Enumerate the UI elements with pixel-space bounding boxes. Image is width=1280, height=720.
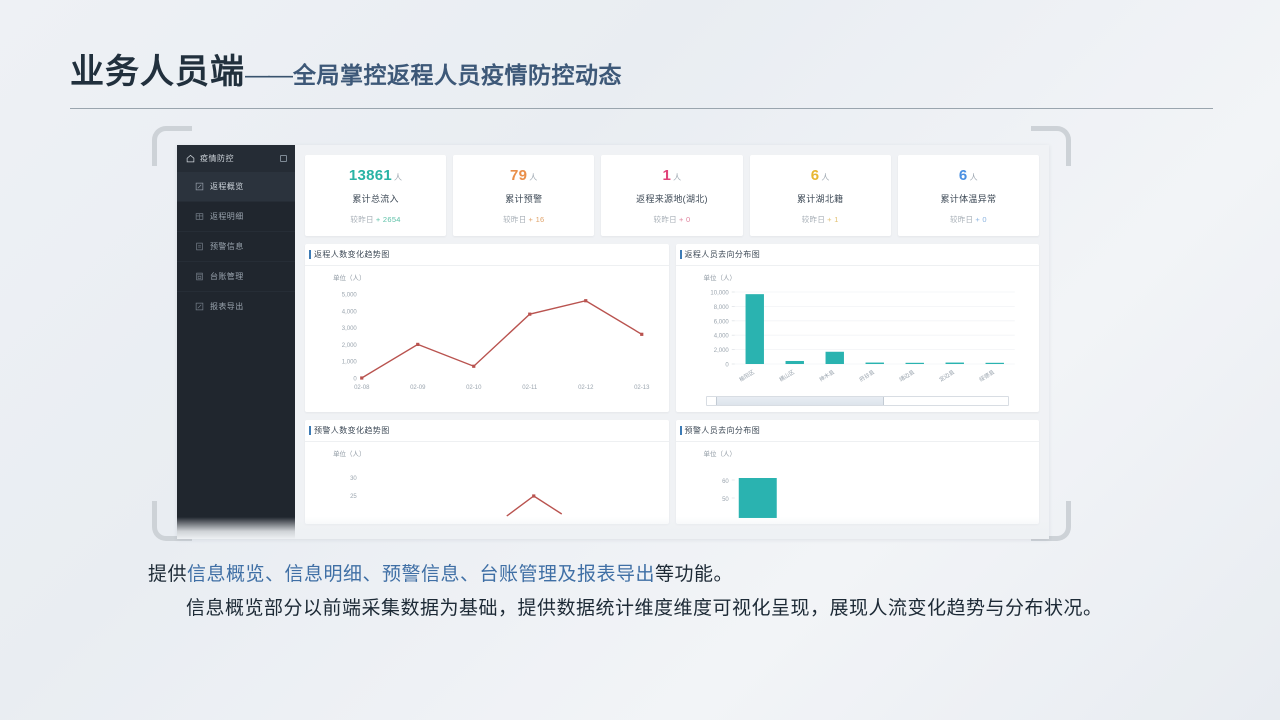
svg-text:绥德县: 绥德县 (977, 368, 996, 384)
kpi-delta-value: + 1 (827, 215, 839, 224)
kpi-value: 6人 (754, 167, 887, 184)
chart-card-return-destination: 返程人员去向分布图 单位（人） 02,0004,0006,0008,00010,… (676, 244, 1040, 412)
sidebar-item-label: 返程明细 (210, 211, 244, 222)
kpi-unit: 人 (529, 173, 537, 182)
page-title-sub: 全局掌控返程人员疫情防控动态 (293, 56, 622, 90)
chart-body: 单位（人） 3025 (305, 442, 669, 524)
svg-text:府谷县: 府谷县 (857, 368, 876, 384)
page-title-dash: —— (245, 61, 291, 90)
svg-text:3,000: 3,000 (342, 326, 358, 332)
chart-card-warning-destination: 预警人员去向分布图 单位（人） 6050 (676, 420, 1040, 524)
kpi-delta-prefix: 较昨日 (654, 215, 677, 224)
kpi-label: 返程来源地(湖北) (605, 192, 738, 205)
svg-text:25: 25 (350, 494, 357, 500)
kpi-value: 1人 (605, 167, 738, 184)
svg-text:50: 50 (722, 497, 729, 503)
svg-text:0: 0 (725, 363, 729, 369)
chart-datazoom-slider[interactable] (706, 396, 1010, 406)
sidebar-item-label: 返程概览 (210, 181, 244, 192)
kpi-delta: 较昨日+ 0 (605, 214, 738, 225)
chart-unit-label: 单位（人） (333, 272, 661, 282)
chart-body: 单位（人） 01,0002,0003,0004,0005,000 02-0802… (305, 266, 669, 408)
sidebar-item-warning-info[interactable]: 预警信息 (177, 232, 295, 261)
screenshot-frame: 疫情防控 返程概览 返程明细 (152, 126, 1071, 541)
edit-square-icon (195, 182, 204, 191)
svg-text:神木县: 神木县 (817, 368, 836, 384)
sidebar-item-report-export[interactable]: 报表导出 (177, 292, 295, 321)
svg-text:0: 0 (353, 377, 357, 383)
svg-text:10,000: 10,000 (710, 291, 729, 297)
kpi-delta-value: + 16 (529, 215, 545, 224)
kpi-delta: 较昨日+ 16 (457, 214, 590, 225)
sidebar-item-return-overview[interactable]: 返程概览 (177, 172, 295, 201)
kpi-delta-prefix: 较昨日 (350, 215, 373, 224)
kpi-delta-prefix: 较昨日 (950, 215, 973, 224)
datazoom-handle[interactable] (716, 397, 885, 405)
kpi-number: 6 (811, 167, 820, 184)
svg-text:1,000: 1,000 (342, 360, 358, 366)
title-divider (70, 108, 1213, 109)
dashboard-content: 13861人 累计总流入 较昨日+ 2654 79人 累计预警 较昨日+ 16 … (295, 145, 1049, 539)
kpi-number: 79 (510, 167, 527, 184)
svg-text:横山区: 横山区 (777, 368, 796, 384)
caption-line1-accent: 信息概览、信息明细、预警信息、台账管理及报表导出 (187, 564, 655, 585)
svg-text:2,000: 2,000 (713, 348, 729, 354)
svg-text:8,000: 8,000 (713, 305, 729, 311)
kpi-label: 累计预警 (457, 192, 590, 205)
sidebar-item-return-detail[interactable]: 返程明细 (177, 202, 295, 231)
svg-text:6,000: 6,000 (713, 319, 729, 325)
kpi-label: 累计总流入 (309, 192, 442, 205)
svg-text:榆阳区: 榆阳区 (737, 368, 756, 384)
collapse-square-icon[interactable] (280, 155, 287, 162)
sidebar-title: 疫情防控 (200, 153, 275, 164)
sidebar-header: 疫情防控 (177, 145, 295, 172)
caption-line-1: 提供信息概览、信息明细、预警信息、台账管理及报表导出等功能。 (148, 558, 1148, 592)
kpi-card-total-inflow: 13861人 累计总流入 较昨日+ 2654 (305, 155, 446, 236)
bar-chart-return-destination[interactable]: 02,0004,0006,0008,00010,000 榆阳区横山区神木县府谷县… (684, 282, 1032, 394)
svg-text:2,000: 2,000 (342, 343, 358, 349)
sidebar-item-ledger-management[interactable]: 台账管理 (177, 262, 295, 291)
line-chart-warning-trend[interactable]: 3025 (313, 458, 661, 518)
kpi-unit: 人 (394, 173, 402, 182)
svg-text:02-13: 02-13 (634, 385, 650, 391)
caption-line-2: 信息概览部分以前端采集数据为基础，提供数据统计维度维度可视化呈现，展现人流变化趋… (148, 592, 1148, 626)
document-icon (195, 242, 204, 251)
sidebar-item-label: 报表导出 (210, 301, 244, 312)
svg-text:定边县: 定边县 (937, 368, 956, 384)
chart-card-return-trend: 返程人数变化趋势图 单位（人） 01,0002,0003,0004,0005,0… (305, 244, 669, 412)
svg-text:4,000: 4,000 (342, 309, 358, 315)
kpi-value: 79人 (457, 167, 590, 184)
caption-line1-pre: 提供 (148, 564, 187, 585)
svg-text:02-11: 02-11 (522, 385, 538, 391)
kpi-row: 13861人 累计总流入 较昨日+ 2654 79人 累计预警 较昨日+ 16 … (305, 155, 1039, 236)
line-chart-return-trend[interactable]: 01,0002,0003,0004,0005,000 02-0802-0902-… (313, 282, 661, 402)
chart-unit-label: 单位（人） (333, 448, 661, 458)
svg-text:5,000: 5,000 (342, 293, 358, 299)
kpi-value: 6人 (902, 167, 1035, 184)
kpi-unit: 人 (970, 173, 978, 182)
kpi-number: 1 (663, 167, 672, 184)
kpi-delta: 较昨日+ 2654 (309, 214, 442, 225)
kpi-card-abnormal-temperature: 6人 累计体温异常 较昨日+ 0 (898, 155, 1039, 236)
chart-title: 返程人数变化趋势图 (305, 244, 669, 266)
bar-chart-warning-destination[interactable]: 6050 (684, 458, 1032, 518)
chart-card-warning-trend: 预警人数变化趋势图 单位（人） 3025 (305, 420, 669, 524)
chart-title: 预警人员去向分布图 (676, 420, 1040, 442)
kpi-delta: 较昨日+ 1 (754, 214, 887, 225)
svg-text:02-09: 02-09 (410, 385, 426, 391)
kpi-delta: 较昨日+ 0 (902, 214, 1035, 225)
chart-title: 预警人数变化趋势图 (305, 420, 669, 442)
svg-text:02-10: 02-10 (466, 385, 482, 391)
ledger-icon (195, 272, 204, 281)
chart-unit-label: 单位（人） (704, 448, 1032, 458)
kpi-unit: 人 (821, 173, 829, 182)
kpi-delta-prefix: 较昨日 (503, 215, 526, 224)
dashboard-app: 疫情防控 返程概览 返程明细 (177, 145, 1049, 539)
home-icon (186, 154, 195, 163)
svg-text:30: 30 (350, 476, 357, 482)
caption-line1-post: 等功能。 (655, 564, 733, 585)
svg-text:02-12: 02-12 (578, 385, 594, 391)
kpi-label: 累计体温异常 (902, 192, 1035, 205)
kpi-delta-prefix: 较昨日 (802, 215, 825, 224)
svg-text:02-08: 02-08 (354, 385, 370, 391)
kpi-card-total-warnings: 79人 累计预警 较昨日+ 16 (453, 155, 594, 236)
kpi-unit: 人 (673, 173, 681, 182)
kpi-card-hubei-registered: 6人 累计湖北籍 较昨日+ 1 (750, 155, 891, 236)
kpi-value: 13861人 (309, 167, 442, 184)
kpi-label: 累计湖北籍 (754, 192, 887, 205)
kpi-delta-value: + 0 (975, 215, 987, 224)
page-title: 业务人员端——全局掌控返程人员疫情防控动态 (70, 44, 622, 93)
svg-text:4,000: 4,000 (713, 334, 729, 340)
sidebar: 疫情防控 返程概览 返程明细 (177, 145, 295, 539)
chart-row-bottom: 预警人数变化趋势图 单位（人） 3025 预警人员去向分布图 单位（人） (305, 420, 1039, 524)
kpi-number: 6 (959, 167, 968, 184)
kpi-card-source-hubei: 1人 返程来源地(湖北) 较昨日+ 0 (601, 155, 742, 236)
chart-unit-label: 单位（人） (704, 272, 1032, 282)
chart-body: 单位（人） 02,0004,0006,0008,00010,000 榆阳区横山区… (676, 266, 1040, 412)
chart-title: 返程人员去向分布图 (676, 244, 1040, 266)
sidebar-item-label: 预警信息 (210, 241, 244, 252)
svg-text:靖边县: 靖边县 (897, 368, 916, 384)
page-title-main: 业务人员端 (70, 44, 245, 93)
chart-body: 单位（人） 6050 (676, 442, 1040, 524)
sidebar-item-label: 台账管理 (210, 271, 244, 282)
svg-text:60: 60 (722, 479, 729, 485)
caption-block: 提供信息概览、信息明细、预警信息、台账管理及报表导出等功能。 信息概览部分以前端… (148, 558, 1148, 626)
table-icon (195, 212, 204, 221)
kpi-delta-value: + 0 (679, 215, 691, 224)
kpi-number: 13861 (349, 167, 392, 184)
export-icon (195, 302, 204, 311)
kpi-delta-value: + 2654 (376, 215, 401, 224)
chart-row-top: 返程人数变化趋势图 单位（人） 01,0002,0003,0004,0005,0… (305, 244, 1039, 412)
